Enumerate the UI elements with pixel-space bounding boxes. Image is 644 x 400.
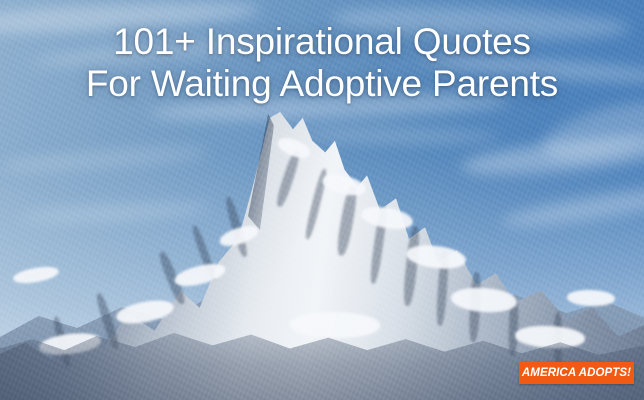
inspirational-quotes-banner: 101+ Inspirational Quotes For Waiting Ad… xyxy=(0,0,644,400)
badge-label: AMERICA ADOPTS! xyxy=(522,367,631,379)
title-line-2: For Waiting Adoptive Parents xyxy=(0,64,644,104)
snow-patch xyxy=(12,264,60,286)
page-title: 101+ Inspirational Quotes For Waiting Ad… xyxy=(0,22,644,104)
america-adopts-badge[interactable]: AMERICA ADOPTS! xyxy=(519,362,634,384)
snow-patch xyxy=(566,289,615,307)
title-line-1: 101+ Inspirational Quotes xyxy=(0,22,644,62)
